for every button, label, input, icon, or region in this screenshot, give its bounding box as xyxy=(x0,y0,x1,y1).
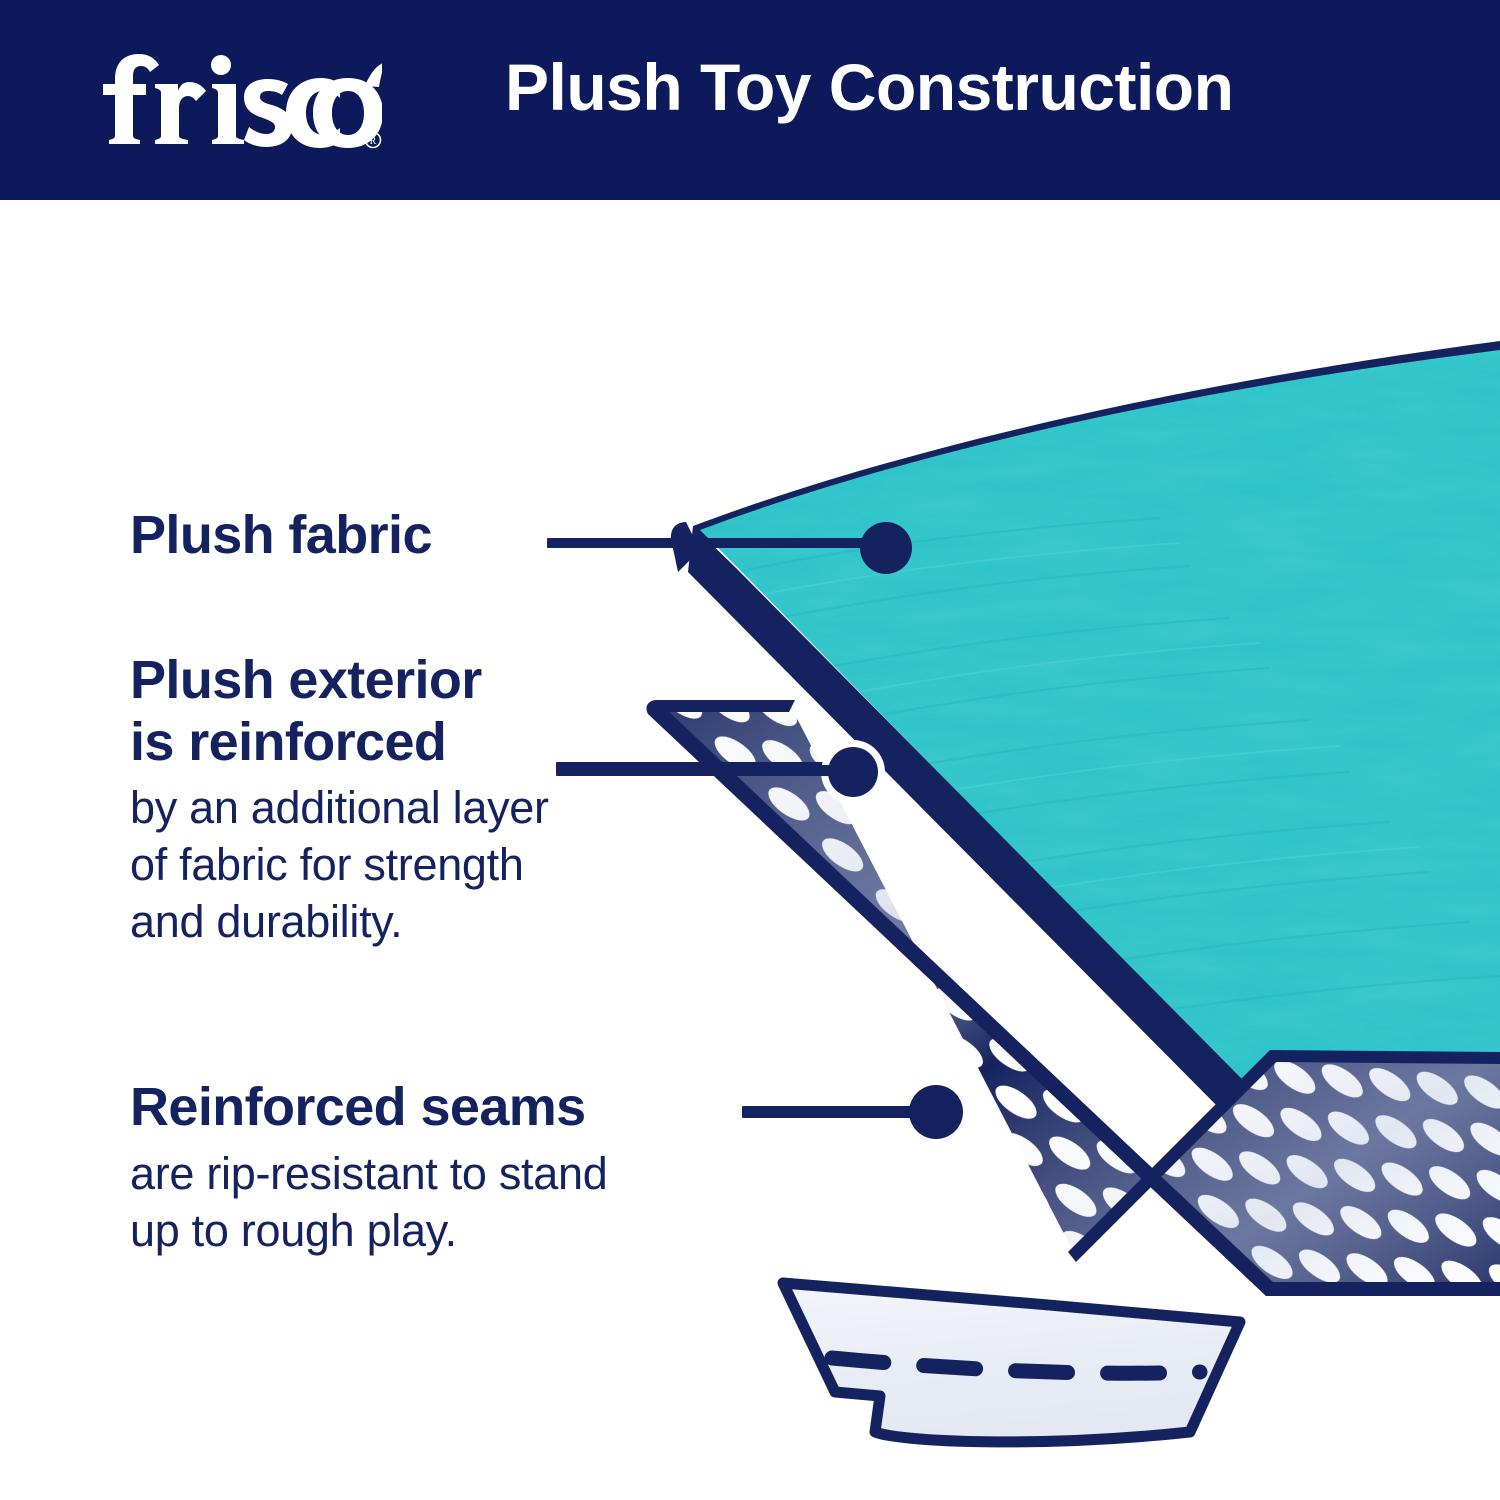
frisco-logo: R xyxy=(82,48,382,153)
callout-heading: Reinforced seams xyxy=(130,1077,607,1139)
seam-flap xyxy=(783,1283,1240,1442)
callout-plush-fabric: Plush fabric xyxy=(130,505,432,567)
callout-body: by an additional layer of fabric for str… xyxy=(130,779,549,950)
callout-heading: Plush exterior is reinforced xyxy=(130,650,549,773)
infographic-page: R Plush Toy Construction xyxy=(0,0,1500,1500)
svg-text:R: R xyxy=(370,136,377,147)
page-title: Plush Toy Construction xyxy=(505,49,1233,125)
leader-line-reinforced-seams xyxy=(742,1085,963,1139)
header-bar: R Plush Toy Construction xyxy=(0,0,1500,200)
callout-heading: Plush fabric xyxy=(130,505,432,567)
callout-reinforced-seams: Reinforced seams are rip-resistant to st… xyxy=(130,1077,607,1259)
callout-body: are rip-resistant to stand up to rough p… xyxy=(130,1145,607,1259)
callout-plush-exterior: Plush exterior is reinforced by an addit… xyxy=(130,650,549,951)
